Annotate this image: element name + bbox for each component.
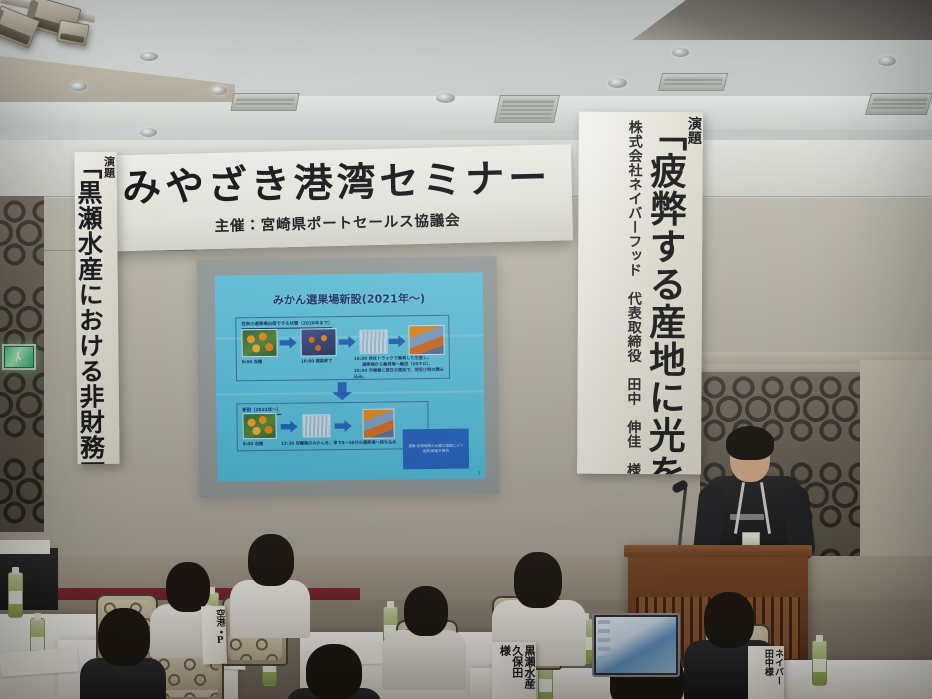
banner-right-title: 「疲弊する産地に光を」 <box>643 114 685 474</box>
podium-top <box>624 545 812 557</box>
audience-head <box>248 534 294 586</box>
banner-right-kind: 演題 <box>686 116 701 145</box>
placard-neighbor: ネイバー 田中様 <box>748 646 784 699</box>
slide-thumb-new-plant <box>362 408 394 438</box>
wall-trim <box>860 360 932 574</box>
placard-neighbor-text: ネイバー 田中様 <box>763 649 783 685</box>
slide-title: みかん選果場新設(2021年〜) <box>215 289 483 308</box>
ceiling-vent <box>494 95 560 123</box>
drink-bottle <box>8 572 23 618</box>
presenter-hair <box>726 426 774 460</box>
main-banner: みやざき港湾セミナー 主催：宮崎県ポートセールス協議会 <box>101 144 573 251</box>
main-banner-title: みやざき港湾セミナー <box>122 158 552 207</box>
exit-sign-icon <box>2 344 36 370</box>
slide-thumb-harvest-2 <box>242 413 276 439</box>
slide-caption-harvest-2: 8:00 収穫 <box>243 441 263 447</box>
banner-right: 演題 「疲弊する産地に光を」 株式会社ネイバーフッド 代表取締役 田中 伸佳 様 <box>577 112 703 475</box>
placard-kurose-text: 黒瀬水産 久保田 様 <box>498 645 535 699</box>
ceiling-vent <box>865 93 932 115</box>
banner-left-kind: 演題 <box>103 156 115 179</box>
placard-airport-text: 空港・P <box>214 609 225 646</box>
downlight-icon <box>672 48 689 57</box>
ceiling-vent <box>658 73 728 91</box>
slide-thumb-truck <box>359 330 387 354</box>
slide-caption-sorting: 16:00 選果終了 <box>301 358 333 364</box>
audience-member <box>232 534 306 630</box>
laptop[interactable] <box>592 613 680 677</box>
slide-thumb-harvest <box>241 329 277 357</box>
downlight-icon <box>436 93 455 103</box>
seminar-photo-scene: みやざき港湾セミナー 主催：宮崎県ポートセールス協議会 演題 「黒瀬水産における… <box>0 0 932 699</box>
audience-head <box>704 592 754 648</box>
audience-torso <box>382 630 466 690</box>
slide-page-number: 3 <box>478 470 481 475</box>
downlight-icon <box>70 82 87 91</box>
main-banner-subtitle: 主催：宮崎県ポートセールス協議会 <box>214 208 460 235</box>
downlight-icon <box>608 78 627 88</box>
downlight-icon <box>140 128 157 137</box>
audience-member <box>386 586 460 686</box>
audience-head <box>98 608 150 666</box>
downlight-icon <box>878 56 896 66</box>
audience-head <box>514 552 562 608</box>
banner-left-title: 「黒瀬水産における非財務面の取組」 <box>75 154 107 464</box>
av-cart-cloth <box>0 540 50 554</box>
placard-kurose: 黒瀬水産 久保田 様 <box>492 642 536 699</box>
banner-left: 演題 「黒瀬水産における非財務面の取組」 黒瀬水産株式会社 経営企画部担当部長 … <box>74 152 119 464</box>
placard-airport: 空港・P <box>201 606 227 665</box>
audience-member <box>80 608 166 699</box>
slide-callout-text: 選果・出荷時間の大幅な短縮により 品質・鮮度を維持 <box>403 429 469 470</box>
downlight-icon <box>210 86 227 95</box>
banner-right-speaker: 株式会社ネイバーフッド 代表取締役 田中 伸佳 様 <box>625 120 642 474</box>
ceiling-vent <box>230 93 299 111</box>
slide-thumb-truck-2 <box>302 414 330 437</box>
slide-thumb-market <box>408 325 444 355</box>
audience-head <box>306 644 362 699</box>
projection-screen: みかん選果場新設(2021年〜) 従来の選果場出荷できる状態（2020年まで） … <box>197 256 500 498</box>
projected-slide: みかん選果場新設(2021年〜) 従来の選果場出荷できる状態（2020年まで） … <box>215 272 485 481</box>
slide-caption-harvest: 8:00 収穫 <box>242 359 262 365</box>
audience-head <box>404 586 448 636</box>
laptop-desktop-icons <box>598 620 610 660</box>
audience-member <box>286 644 382 699</box>
audience-head <box>166 562 210 612</box>
slide-thumb-sorting <box>300 328 336 356</box>
audience-torso <box>230 580 310 638</box>
drink-bottle <box>812 640 827 686</box>
audience-table <box>760 660 932 699</box>
downlight-icon <box>140 52 158 61</box>
slide-caption-transport: 16:30 自社トラックで集荷した生産し、 選果場から集荷場へ輸送（20キロ）。… <box>354 355 446 380</box>
slide-callout-box: 選果・出荷時間の大幅な短縮により 品質・鮮度を維持 <box>403 429 469 470</box>
